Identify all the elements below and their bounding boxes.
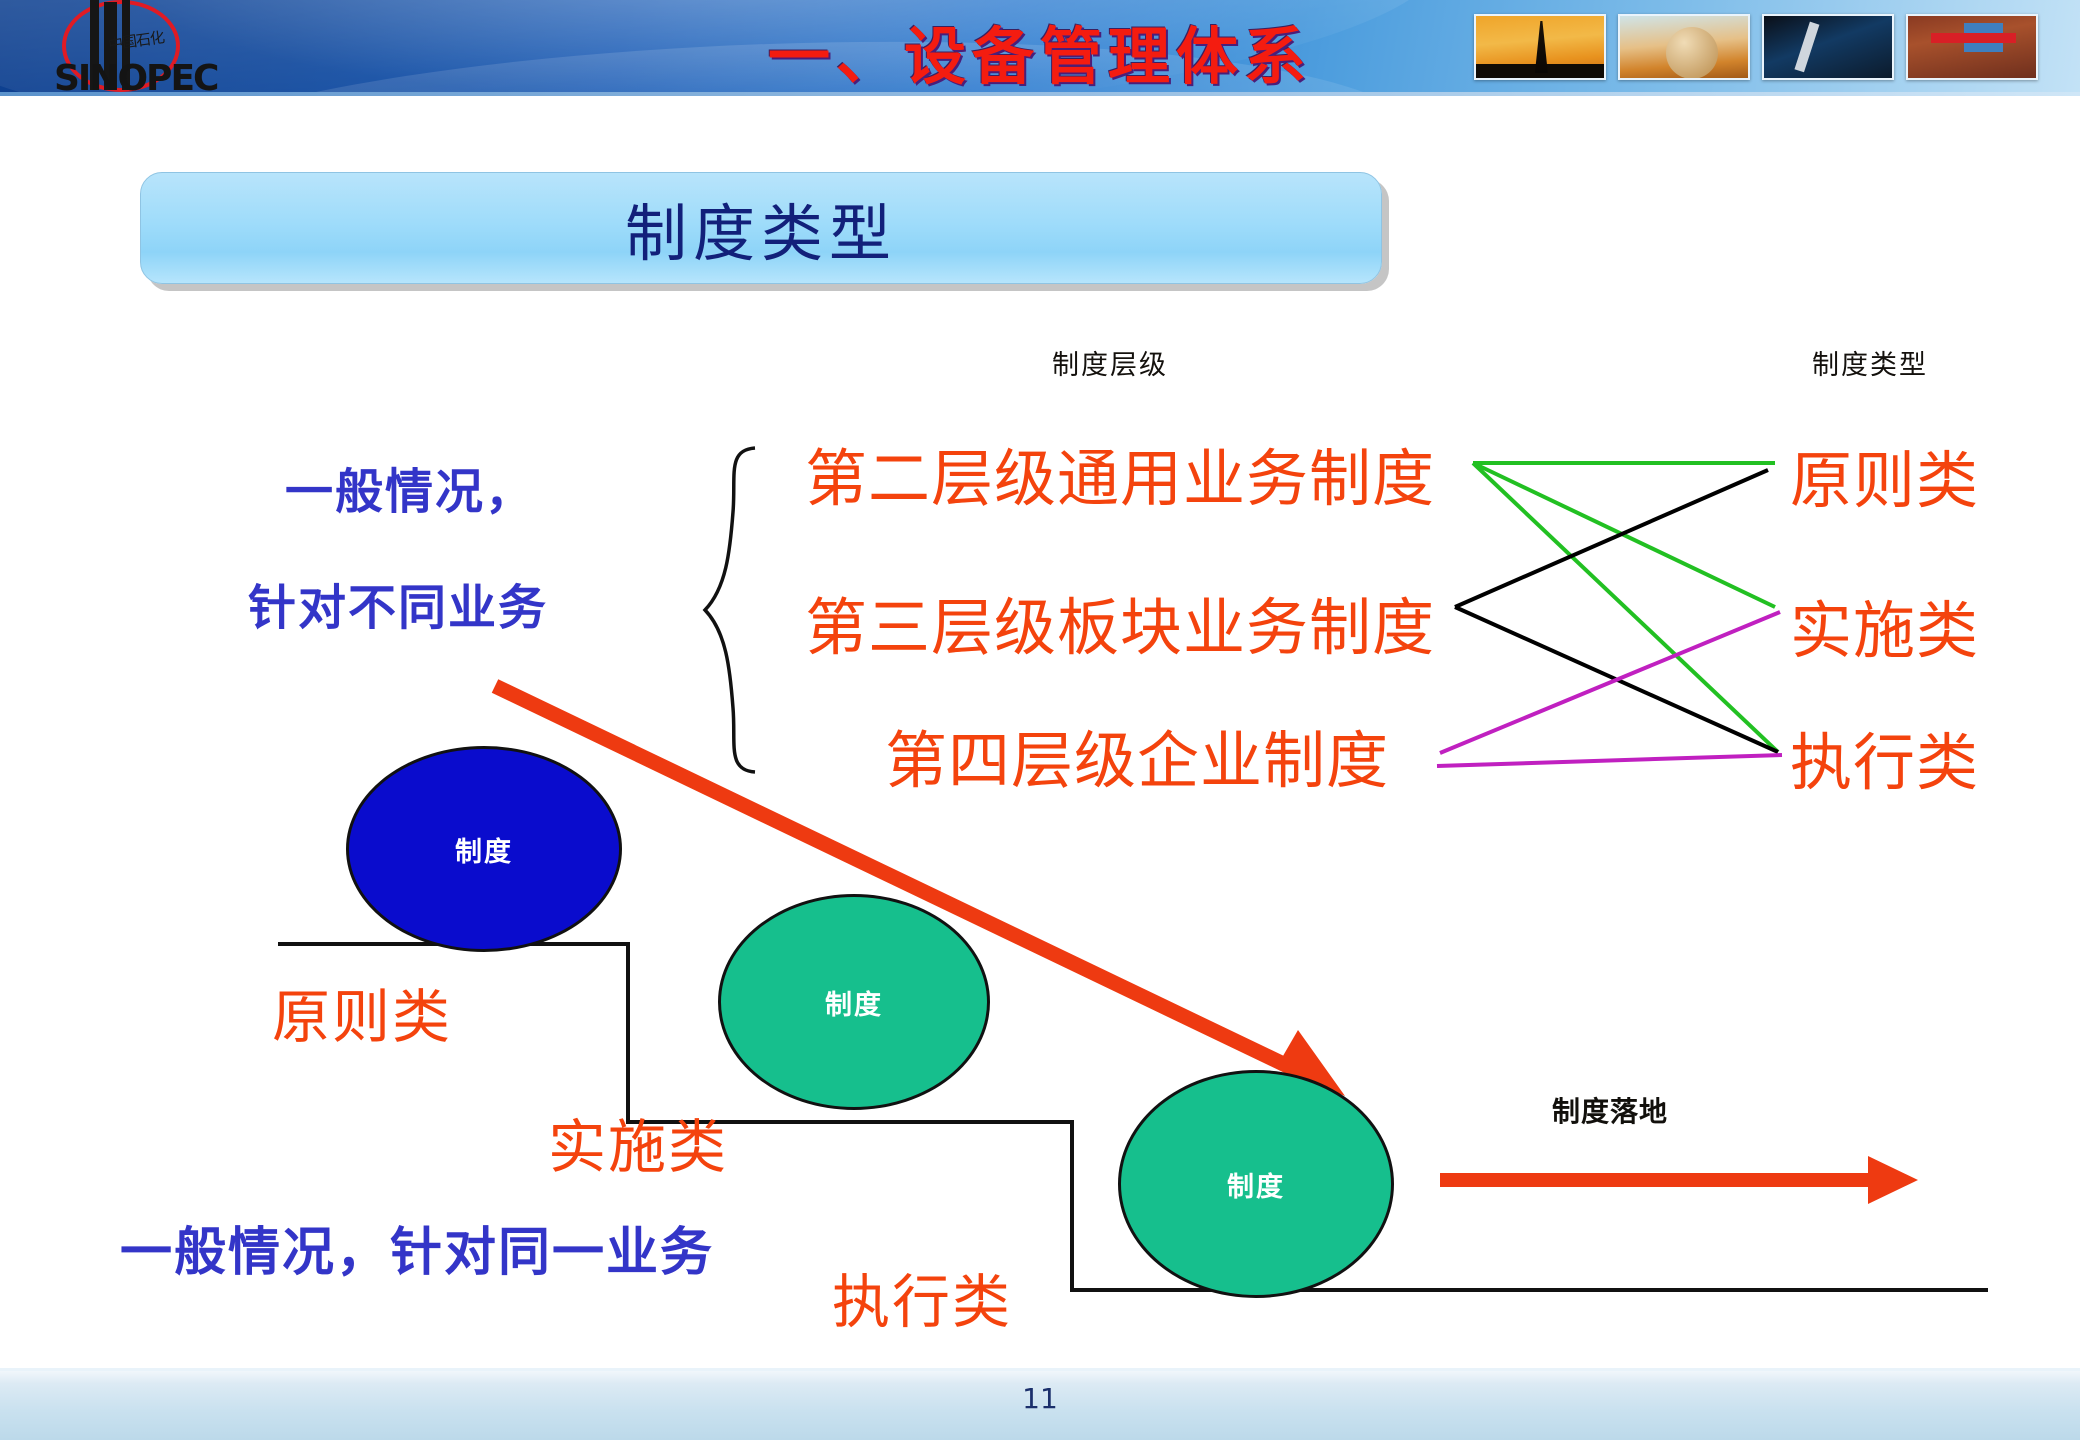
category-implementation: 实施类 (1790, 580, 1979, 670)
slide-header: 中国石化 SINOPEC 一、设备管理体系 (0, 0, 2080, 96)
thumbnail-spherical-storage-tanks (1618, 14, 1750, 80)
connector-l3-execution (1455, 607, 1778, 752)
page-number: 11 (0, 1382, 2080, 1415)
ellipse-label: 制度 (1227, 1165, 1285, 1204)
ellipse-label: 制度 (455, 830, 513, 869)
category-execution: 执行类 (1790, 712, 1979, 802)
slide: 中国石化 SINOPEC 一、设备管理体系 制度类型 制度层级 制度类型 一般情… (0, 0, 2080, 1440)
stair-label-execution: 执行类 (832, 1255, 1012, 1339)
thumbnail-industrial-machinery (1762, 14, 1894, 80)
column-header-level: 制度层级 (1052, 343, 1168, 382)
column-header-type: 制度类型 (1812, 343, 1928, 382)
section-heading-text: 制度类型 (141, 173, 1381, 283)
ellipse-system-implementation: 制度 (718, 894, 990, 1110)
footer-rule (0, 1368, 2080, 1371)
ellipse-system-execution: 制度 (1118, 1070, 1394, 1298)
note-different-business: 针对不同业务 (248, 568, 548, 638)
level-item-3: 第三层级板块业务制度 (805, 577, 1435, 667)
note-same-business: 一般情况，针对同一业务 (120, 1210, 714, 1285)
level-item-2: 第二层级通用业务制度 (805, 428, 1435, 518)
note-general-case: 一般情况， (285, 452, 535, 522)
section-heading-pill: 制度类型 (140, 172, 1382, 284)
connector-l2-implementation (1473, 463, 1775, 607)
ellipse-system-principle: 制度 (346, 746, 622, 952)
stair-label-implementation: 实施类 (548, 1100, 728, 1184)
thumbnail-oil-derrick-sunset (1474, 14, 1606, 80)
connector-l3-principle (1455, 470, 1768, 607)
levels-brace (705, 448, 755, 772)
level-item-4: 第四层级企业制度 (885, 710, 1389, 800)
thumbnail-office-buildings (1906, 14, 2038, 80)
ellipse-label: 制度 (825, 983, 883, 1022)
connector-l2-execution (1473, 463, 1778, 752)
landing-arrow (1440, 1156, 1918, 1204)
slide-footer: 11 (0, 1368, 2080, 1440)
connector-l4-execution (1437, 755, 1782, 766)
header-thumbnail-strip (1474, 14, 2038, 80)
stair-label-principle: 原则类 (272, 970, 452, 1054)
category-principle: 原则类 (1790, 430, 1979, 520)
landing-label: 制度落地 (1552, 1090, 1668, 1130)
header-bottom-rule (0, 92, 2080, 96)
connector-l4-implementation (1440, 612, 1780, 753)
